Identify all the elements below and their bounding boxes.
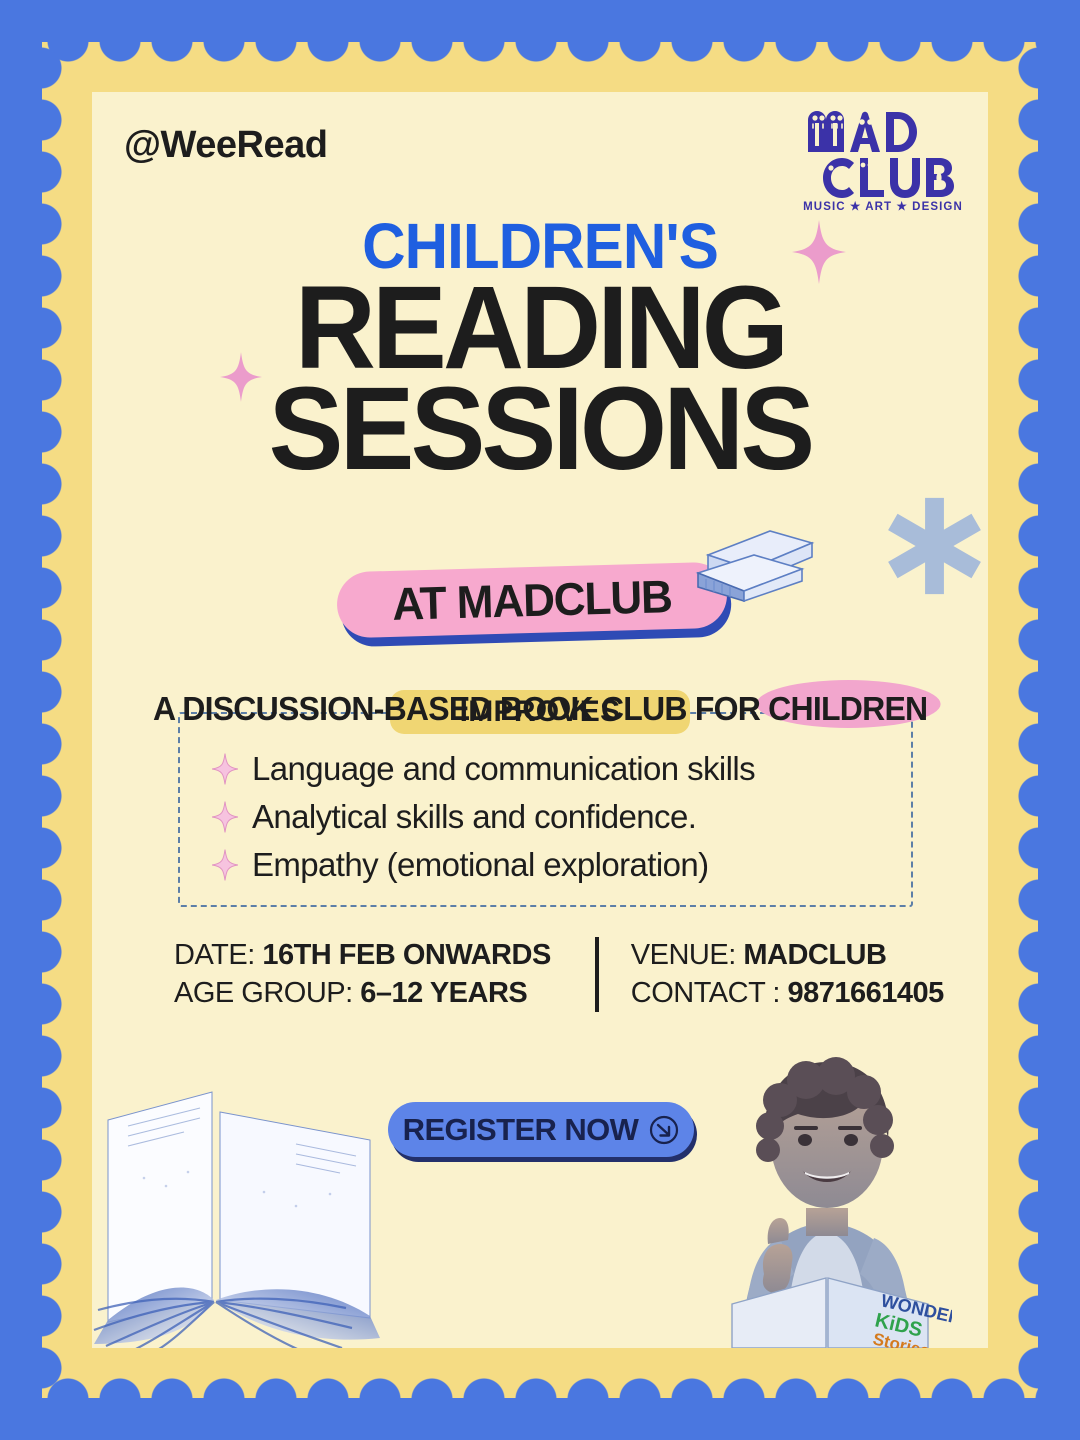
sparkle-bullet-icon <box>212 801 238 833</box>
age-value: 6–12 YEARS <box>360 977 527 1009</box>
contact-value: 9871661405 <box>787 977 943 1009</box>
circled-arrow-down-right-icon <box>649 1115 679 1145</box>
event-details: DATE: 16TH FEB ONWARDS AGE GROUP: 6–12 Y… <box>174 937 944 1012</box>
list-item-label: Analytical skills and confidence. <box>252 798 696 836</box>
list-item: Analytical skills and confidence. <box>212 798 755 836</box>
sparkle-bullet-icon <box>212 753 238 785</box>
contact-label: CONTACT : <box>631 977 780 1009</box>
date-label: DATE: <box>174 939 255 971</box>
venue-label: VENUE: <box>631 939 736 971</box>
subtitle-text: A DISCUSSION-BASED BOOK CLUB FOR CHILDRE… <box>153 690 927 728</box>
subtitle-prefix: A DISCUSSION-BASED BOOK CLUB FOR <box>153 690 768 727</box>
logo-tagline: MUSIC ★ ART ★ DESIGN <box>800 199 966 213</box>
poster-panel: @WeeRead <box>92 92 988 1348</box>
stamp-scallop-left <box>41 42 71 1398</box>
detail-age: AGE GROUP: 6–12 YEARS <box>174 975 551 1013</box>
child-reading-photo: WONDERS KiDS Stories <box>702 1022 952 1348</box>
register-now-button[interactable]: REGISTER NOW <box>388 1102 694 1157</box>
detail-column-left: DATE: 16TH FEB ONWARDS AGE GROUP: 6–12 Y… <box>174 937 551 1012</box>
asterisk-accent-icon <box>887 496 982 596</box>
detail-contact: CONTACT : 9871661405 <box>631 975 944 1013</box>
date-value: 16TH FEB ONWARDS <box>262 939 550 971</box>
venue-value: MADCLUB <box>743 939 886 971</box>
detail-date: DATE: 16TH FEB ONWARDS <box>174 937 551 975</box>
stamp-scallop-right <box>1009 42 1039 1398</box>
madclub-logo: MUSIC ★ ART ★ DESIGN <box>800 106 966 213</box>
list-item: Language and communication skills <box>212 750 755 788</box>
badge-label: AT MADCLUB <box>344 562 720 638</box>
poster-title: CHILDREN'S READING SESSIONS <box>92 217 988 477</box>
sparkle-bullet-icon <box>212 849 238 881</box>
madclub-logo-icon <box>800 106 966 198</box>
improves-list: Language and communication skills Analyt… <box>212 750 755 894</box>
register-button-label: REGISTER NOW <box>403 1112 639 1148</box>
stacked-books-illustration <box>692 497 817 602</box>
poster-subtitle: A DISCUSSION-BASED BOOK CLUB FOR CHILDRE… <box>92 690 988 728</box>
list-item-label: Language and communication skills <box>252 750 755 788</box>
subtitle-highlighted-word: CHILDREN <box>768 690 927 727</box>
sparkle-star-icon <box>792 220 846 284</box>
age-label: AGE GROUP: <box>174 977 353 1009</box>
sparkle-star-icon <box>220 352 262 402</box>
list-item-label: Empathy (emotional exploration) <box>252 846 708 884</box>
social-handle: @WeeRead <box>124 124 327 167</box>
list-item: Empathy (emotional exploration) <box>212 846 755 884</box>
detail-column-right: VENUE: MADCLUB CONTACT : 9871661405 <box>595 937 944 1012</box>
detail-venue: VENUE: MADCLUB <box>631 937 944 975</box>
at-madclub-badge: AT MADCLUB <box>336 562 728 639</box>
